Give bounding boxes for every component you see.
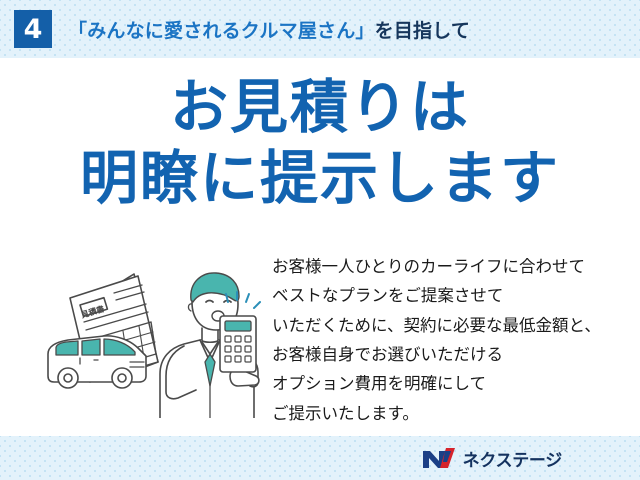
brand-logo: ネクステージ: [422, 446, 562, 471]
promo-slide: 4 「みんなに愛されるクルマ屋さん」を目指して お見積りは 明瞭に提示します お…: [0, 0, 640, 480]
header-band: 4 「みんなに愛されるクルマ屋さん」を目指して: [0, 0, 640, 58]
nextage-n-logo-icon: [422, 447, 456, 469]
body-copy-line: いただくために、契約に必要な最低金額と、: [272, 311, 622, 340]
headline: お見積りは 明瞭に提示します: [0, 78, 640, 207]
body-copy-line: オプション費用を明確にして: [272, 369, 622, 398]
headline-line-2: 明瞭に提示します: [0, 149, 640, 207]
footer-band: ネクステージ: [0, 436, 640, 480]
section-number-badge: 4: [14, 10, 52, 48]
headline-line-1: お見積りは: [0, 78, 640, 136]
body-copy-line: お客様自身でお選びいただける: [272, 340, 622, 369]
minivan-car: [48, 336, 146, 388]
header-title: 「みんなに愛されるクルマ屋さん」を目指して: [68, 16, 470, 43]
brand-name: ネクステージ: [463, 446, 562, 471]
body-copy-line: ご提示いたします。: [272, 399, 622, 428]
illustration-svg: 見積書: [34, 258, 270, 418]
body-copy-line: ベストなプランをご提案させて: [272, 281, 622, 310]
body-copy: お客様一人ひとりのカーライフに合わせて ベストなプランをご提案させて いただくた…: [272, 252, 622, 428]
header-title-tail: を目指して: [375, 20, 470, 42]
calculator-device: [220, 316, 256, 372]
header-title-quoted: 「みんなに愛されるクルマ屋さん」: [68, 20, 375, 42]
illustration: 見積書: [34, 258, 270, 418]
body-copy-line: お客様一人ひとりのカーライフに合わせて: [272, 252, 622, 281]
